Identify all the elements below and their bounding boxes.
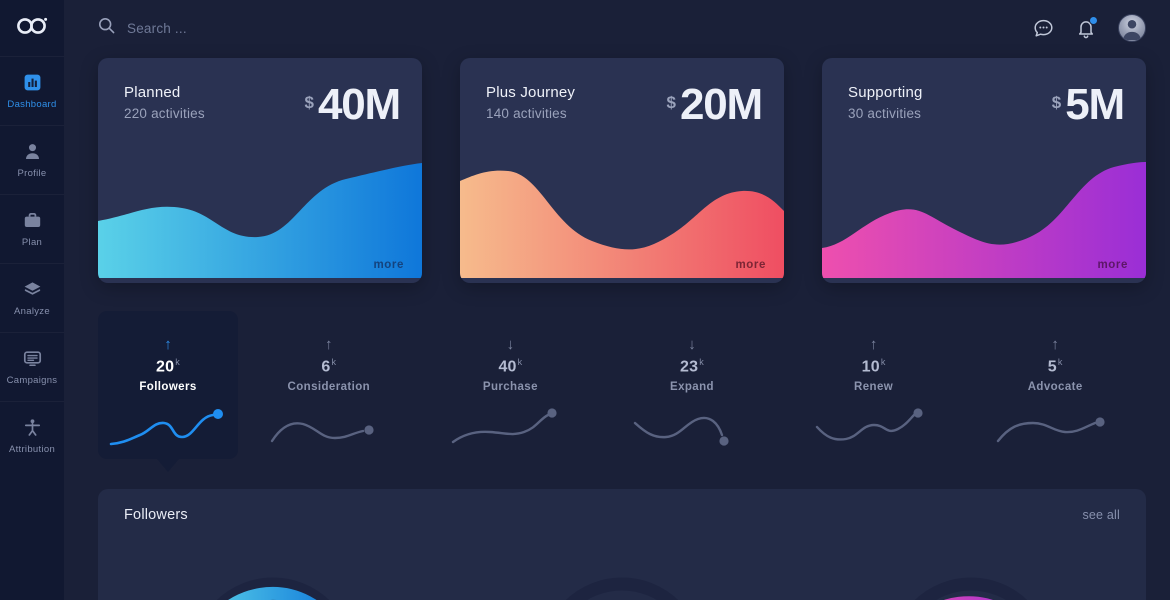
sparkline-chart [995,405,1115,451]
avatar[interactable] [1118,14,1146,42]
card-more-link[interactable]: more [1097,259,1128,271]
funnel-value-unit: k [518,357,523,367]
bell-icon[interactable] [1076,18,1096,39]
topbar-actions [1033,14,1146,42]
funnel-tile-value: 20k [156,357,180,376]
funnel-tile-value: 10k [862,357,886,376]
chat-bubble-icon[interactable] [1033,18,1054,39]
card-more-link[interactable]: more [735,259,766,271]
main-content: Planned 220 activities $ 40M [64,0,1170,600]
card-amount: $ 5M [1052,84,1124,126]
arrow-up-icon: ↑ [870,337,878,352]
gauge-pink[interactable] [797,541,1146,600]
card-title: Planned [124,84,305,101]
funnel-value-number: 6 [321,358,330,375]
card-subtitle: 30 activities [848,106,1052,121]
card-value: 5M [1065,84,1124,126]
card-header: Planned 220 activities $ 40M [98,58,422,126]
summary-card-supporting[interactable]: Supporting 30 activities $ 5M [822,58,1146,283]
panel-header: Followers see all [98,489,1146,523]
arrow-up-icon: ↑ [164,337,172,352]
sparkline-chart [450,405,570,451]
search-box[interactable] [98,17,1033,39]
arrow-down-icon: ↓ [507,337,515,352]
arrow-up-icon: ↑ [1051,337,1059,352]
sparkline-chart [108,405,228,451]
notification-badge [1089,16,1098,25]
card-subtitle: 220 activities [124,106,305,121]
funnel-tile-advocate[interactable]: ↑ 5k Advocate [964,311,1146,459]
funnel-tile-value: 5k [1048,357,1063,376]
funnel-value-unit: k [881,357,886,367]
search-input[interactable] [127,21,387,36]
summary-cards: Planned 220 activities $ 40M [0,56,1170,283]
sparkline-chart [814,405,934,451]
panel-title: Followers [124,507,188,523]
funnel-value-unit: k [175,357,180,367]
funnel-tile-label: Consideration [288,381,371,393]
funnel-value-unit: k [699,357,704,367]
card-amount: $ 20M [667,84,762,126]
sparkline-chart [269,405,389,451]
see-all-link[interactable]: see all [1082,508,1120,522]
infinity-logo-icon [15,16,49,41]
sparkline-chart [632,405,752,451]
card-title: Plus Journey [486,84,667,101]
funnel-metrics: ↑ 20k Followers ↑ 6k Consideration [0,311,1170,459]
gauge-blue[interactable] [98,541,447,600]
card-value: 20M [680,84,762,126]
funnel-value-unit: k [332,357,337,367]
funnel-value-number: 5 [1048,358,1057,375]
funnel-tile-consideration[interactable]: ↑ 6k Consideration [238,311,420,459]
card-title: Supporting [848,84,1052,101]
funnel-tile-label: Renew [854,381,893,393]
funnel-tile-value: 23k [680,357,704,376]
funnel-value-number: 20 [156,358,174,375]
summary-card-planned[interactable]: Planned 220 activities $ 40M [98,58,422,283]
funnel-value-number: 23 [680,358,698,375]
funnel-tile-label: Expand [670,381,714,393]
card-header: Plus Journey 140 activities $ 20M [460,58,784,126]
gauge-orange[interactable] [447,541,796,600]
topbar [64,0,1170,56]
gauge-row [98,541,1146,600]
funnel-tile-purchase[interactable]: ↓ 40k Purchase [420,311,602,459]
funnel-tile-followers[interactable]: ↑ 20k Followers [98,311,238,459]
funnel-value-unit: k [1058,357,1063,367]
app-logo[interactable] [0,0,64,56]
funnel-tile-value: 6k [321,357,336,376]
card-subtitle: 140 activities [486,106,667,121]
followers-panel: Followers see all [98,489,1146,600]
card-header: Supporting 30 activities $ 5M [822,58,1146,126]
dashboard-root: Dashboard Profile Plan [0,0,1170,600]
search-icon [98,17,115,39]
funnel-tile-label: Advocate [1028,381,1083,393]
arrow-up-icon: ↑ [325,337,333,352]
card-currency: $ [667,93,676,113]
funnel-tile-expand[interactable]: ↓ 23k Expand [601,311,783,459]
funnel-value-number: 40 [498,358,516,375]
funnel-tile-renew[interactable]: ↑ 10k Renew [783,311,965,459]
card-more-link[interactable]: more [373,259,404,271]
funnel-value-number: 10 [862,358,880,375]
summary-card-plus-journey[interactable]: Plus Journey 140 activities $ 20M [460,58,784,283]
arrow-down-icon: ↓ [688,337,696,352]
funnel-tile-value: 40k [498,357,522,376]
funnel-tile-label: Followers [139,381,196,393]
card-currency: $ [305,93,314,113]
card-currency: $ [1052,93,1061,113]
funnel-tile-label: Purchase [483,381,538,393]
card-value: 40M [318,84,400,126]
card-amount: $ 40M [305,84,400,126]
